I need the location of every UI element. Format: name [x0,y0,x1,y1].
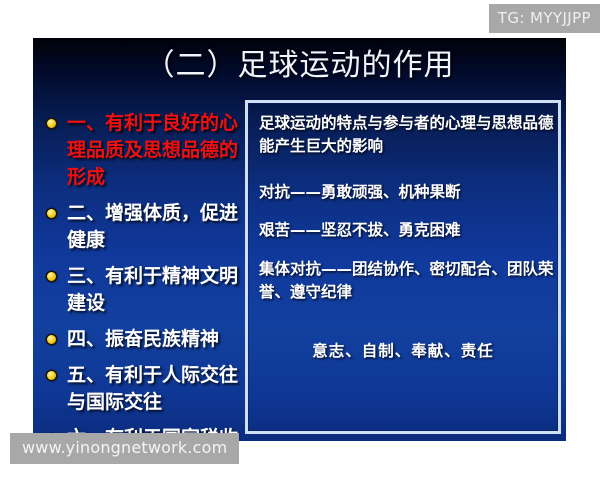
bullet-dot-icon [47,209,56,218]
content-paragraph: 艰苦——坚忍不拔、勇克困难 [259,219,555,242]
bullet-dot-icon [47,119,56,128]
content-paragraph: 足球运动的特点与参与者的心理与思想品德能产生巨大的影响 [259,112,555,158]
telegram-tag-watermark: TG: MYYJJPP [489,4,600,33]
bullet-dot-icon [47,272,56,281]
list-item-label: 五、有利于人际交往与国际交往 [67,364,238,413]
list-item-label: 四、振奋民族精神 [67,328,219,350]
content-text-box: 足球运动的特点与参与者的心理与思想品德能产生巨大的影响 对抗——勇敢顽强、机种果… [245,100,561,434]
site-url-watermark: www.yinongnetwork.com [10,433,239,464]
bullet-dot-icon [47,335,56,344]
list-item: 三、有利于精神文明建设 [45,263,248,317]
list-item-label: 一、有利于良好的心理品质及思想品德的形成 [67,112,238,188]
list-item: 四、振奋民族精神 [45,326,248,353]
bullet-list: 一、有利于良好的心理品质及思想品德的形成 二、增强体质，促进健康 三、有利于精神… [45,110,248,441]
list-item: 二、增强体质，促进健康 [45,200,248,254]
bullet-dot-icon [47,371,56,380]
content-summary-line: 意志、自制、奉献、责任 [248,340,558,363]
list-item: 五、有利于人际交往与国际交往 [45,362,248,416]
content-paragraph: 对抗——勇敢顽强、机种果断 [259,181,555,204]
page-title: （二）足球运动的作用 [33,46,566,86]
list-item-label: 三、有利于精神文明建设 [67,265,238,314]
list-item: 一、有利于良好的心理品质及思想品德的形成 [45,110,248,191]
content-paragraph: 集体对抗——团结协作、密切配合、团队荣誉、遵守纪律 [259,258,555,304]
list-item-label: 二、增强体质，促进健康 [67,202,238,251]
presentation-slide: （二）足球运动的作用 一、有利于良好的心理品质及思想品德的形成 二、增强体质，促… [33,38,566,441]
